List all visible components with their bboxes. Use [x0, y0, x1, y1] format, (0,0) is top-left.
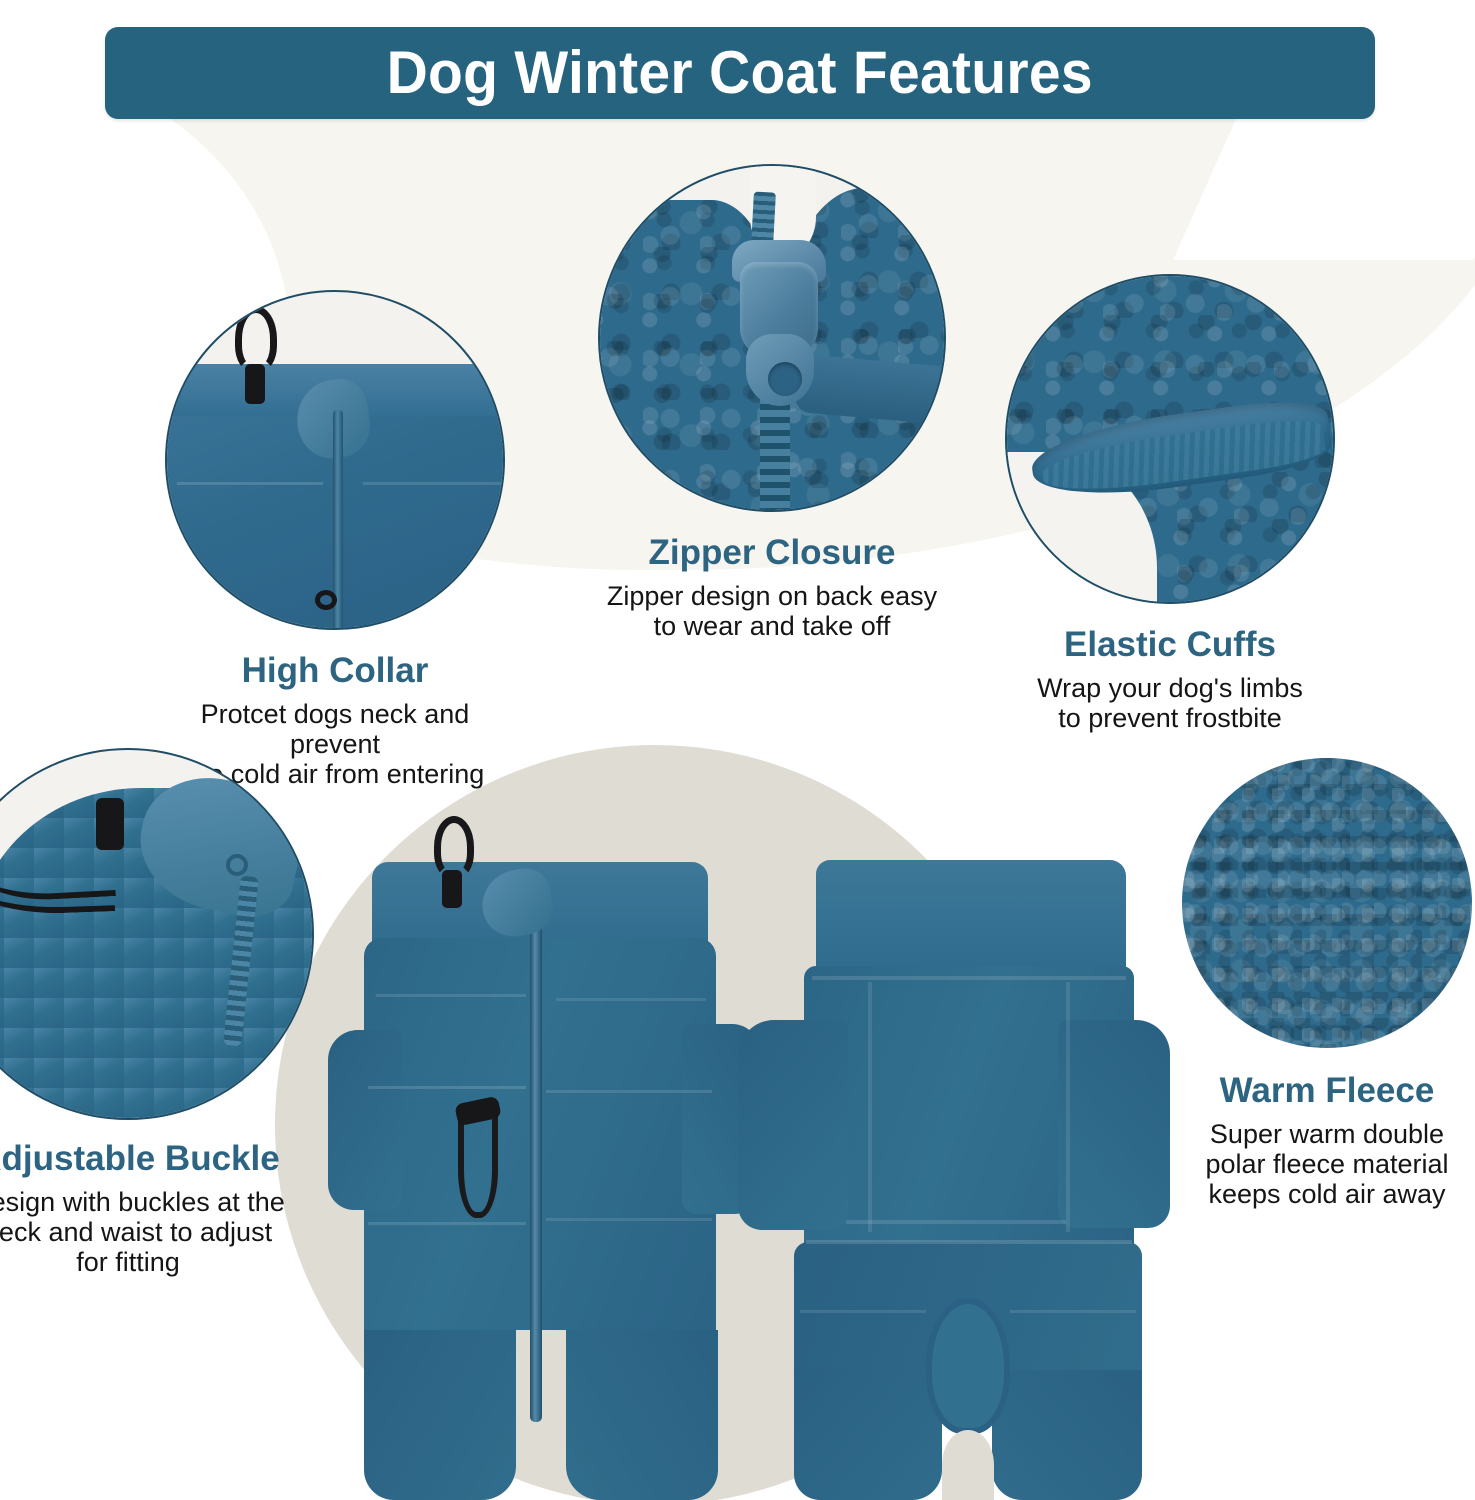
description-line: for fitting: [0, 1247, 314, 1277]
feature-heading: Adjustable Buckle: [0, 1140, 314, 1178]
front-seam-upper-right: [556, 998, 706, 1001]
feature-description: Design with buckles at the neck and wais…: [0, 1187, 314, 1278]
feature-heading: High Collar: [165, 652, 505, 690]
buckle-toggle: [96, 798, 124, 850]
collar-seam-right: [363, 482, 505, 485]
back-seam-vertical-left: [868, 982, 872, 1232]
drawstring-cord: [235, 306, 277, 372]
front-seam-mid-right: [546, 1090, 712, 1093]
dog-coat-front-view: [330, 770, 750, 1500]
back-tail-opening: [926, 1298, 1010, 1434]
front-seam-mid-left: [368, 1086, 526, 1089]
zipper-pull-hole: [768, 362, 802, 396]
description-line: Wrap your dog's limbs: [1005, 673, 1335, 703]
back-collar: [816, 860, 1126, 978]
back-right-sleeve: [1058, 1020, 1170, 1228]
front-right-leg: [566, 1330, 718, 1500]
buckle-small-ring: [226, 854, 248, 876]
feature-heading: Elastic Cuffs: [1005, 626, 1335, 664]
back-leg-gap: [942, 1430, 994, 1500]
product-photo-group: [300, 770, 1170, 1500]
elastic-cuffs-photo: [1005, 274, 1335, 604]
feature-zipper-closure: Zipper Closure Zipper design on back eas…: [598, 164, 946, 641]
back-right-leg: [992, 1370, 1142, 1500]
feature-description: Zipper design on back easy to wear and t…: [598, 581, 946, 641]
front-seam-upper-left: [376, 994, 526, 997]
feature-heading: Zipper Closure: [598, 534, 946, 572]
adjustable-buckle-photo: [0, 748, 314, 1120]
infographic-canvas: Dog Winter Coat Features High Collar Pro…: [0, 0, 1475, 1500]
front-center-zipper: [530, 922, 542, 1422]
back-left-leg: [794, 1370, 942, 1500]
description-line: neck and waist to adjust: [0, 1217, 314, 1247]
feature-description: Wrap your dog's limbs to prevent frostbi…: [1005, 673, 1335, 733]
front-waist-cord: [458, 1114, 498, 1218]
front-left-sleeve: [328, 1030, 402, 1210]
feature-elastic-cuffs: Elastic Cuffs Wrap your dog's limbs to p…: [1005, 274, 1335, 733]
back-seam-vertical-right: [1066, 982, 1070, 1232]
feature-high-collar: High Collar Protcet dogs neck and preven…: [165, 290, 505, 790]
description-line: polar fleece material: [1182, 1149, 1472, 1179]
cord-toggle: [245, 364, 265, 404]
description-line: Design with buckles at the: [0, 1187, 314, 1217]
page-title: Dog Winter Coat Features: [387, 43, 1093, 103]
lower-cord-loop: [315, 590, 337, 610]
back-seam-shoulder: [812, 976, 1126, 980]
buckle-cord-lower: [0, 843, 115, 917]
warm-fleece-swatch: [1182, 758, 1472, 1048]
description-line: keeps cold air away: [1182, 1179, 1472, 1209]
fleece-texture: [1182, 758, 1472, 1048]
title-banner: Dog Winter Coat Features: [105, 27, 1375, 119]
back-seam-sleeve-line: [846, 1220, 1066, 1224]
feature-heading: Warm Fleece: [1182, 1072, 1472, 1110]
description-line: to wear and take off: [598, 611, 946, 641]
description-line: to prevent frostbite: [1005, 703, 1335, 733]
front-seam-lower-left: [368, 1222, 526, 1225]
front-seam-lower-right: [546, 1218, 712, 1221]
high-collar-photo: [165, 290, 505, 630]
back-seam-lower-right: [1010, 1310, 1136, 1313]
front-neck-cord: [434, 816, 474, 878]
dog-coat-back-view: [740, 770, 1170, 1500]
back-seam-lower-left: [800, 1310, 926, 1313]
back-left-sleeve: [738, 1020, 848, 1230]
back-seam-waist: [806, 1240, 1132, 1244]
description-line: Zipper design on back easy: [598, 581, 946, 611]
feature-description: Super warm double polar fleece material …: [1182, 1119, 1472, 1210]
front-neck-toggle: [442, 870, 462, 908]
collar-seam-left: [177, 482, 323, 485]
feature-adjustable-buckle: Adjustable Buckle Design with buckles at…: [0, 748, 314, 1278]
front-left-leg: [364, 1330, 516, 1500]
zipper-closure-photo: [598, 164, 946, 512]
feature-warm-fleece: Warm Fleece Super warm double polar flee…: [1182, 758, 1472, 1210]
description-line: Super warm double: [1182, 1119, 1472, 1149]
